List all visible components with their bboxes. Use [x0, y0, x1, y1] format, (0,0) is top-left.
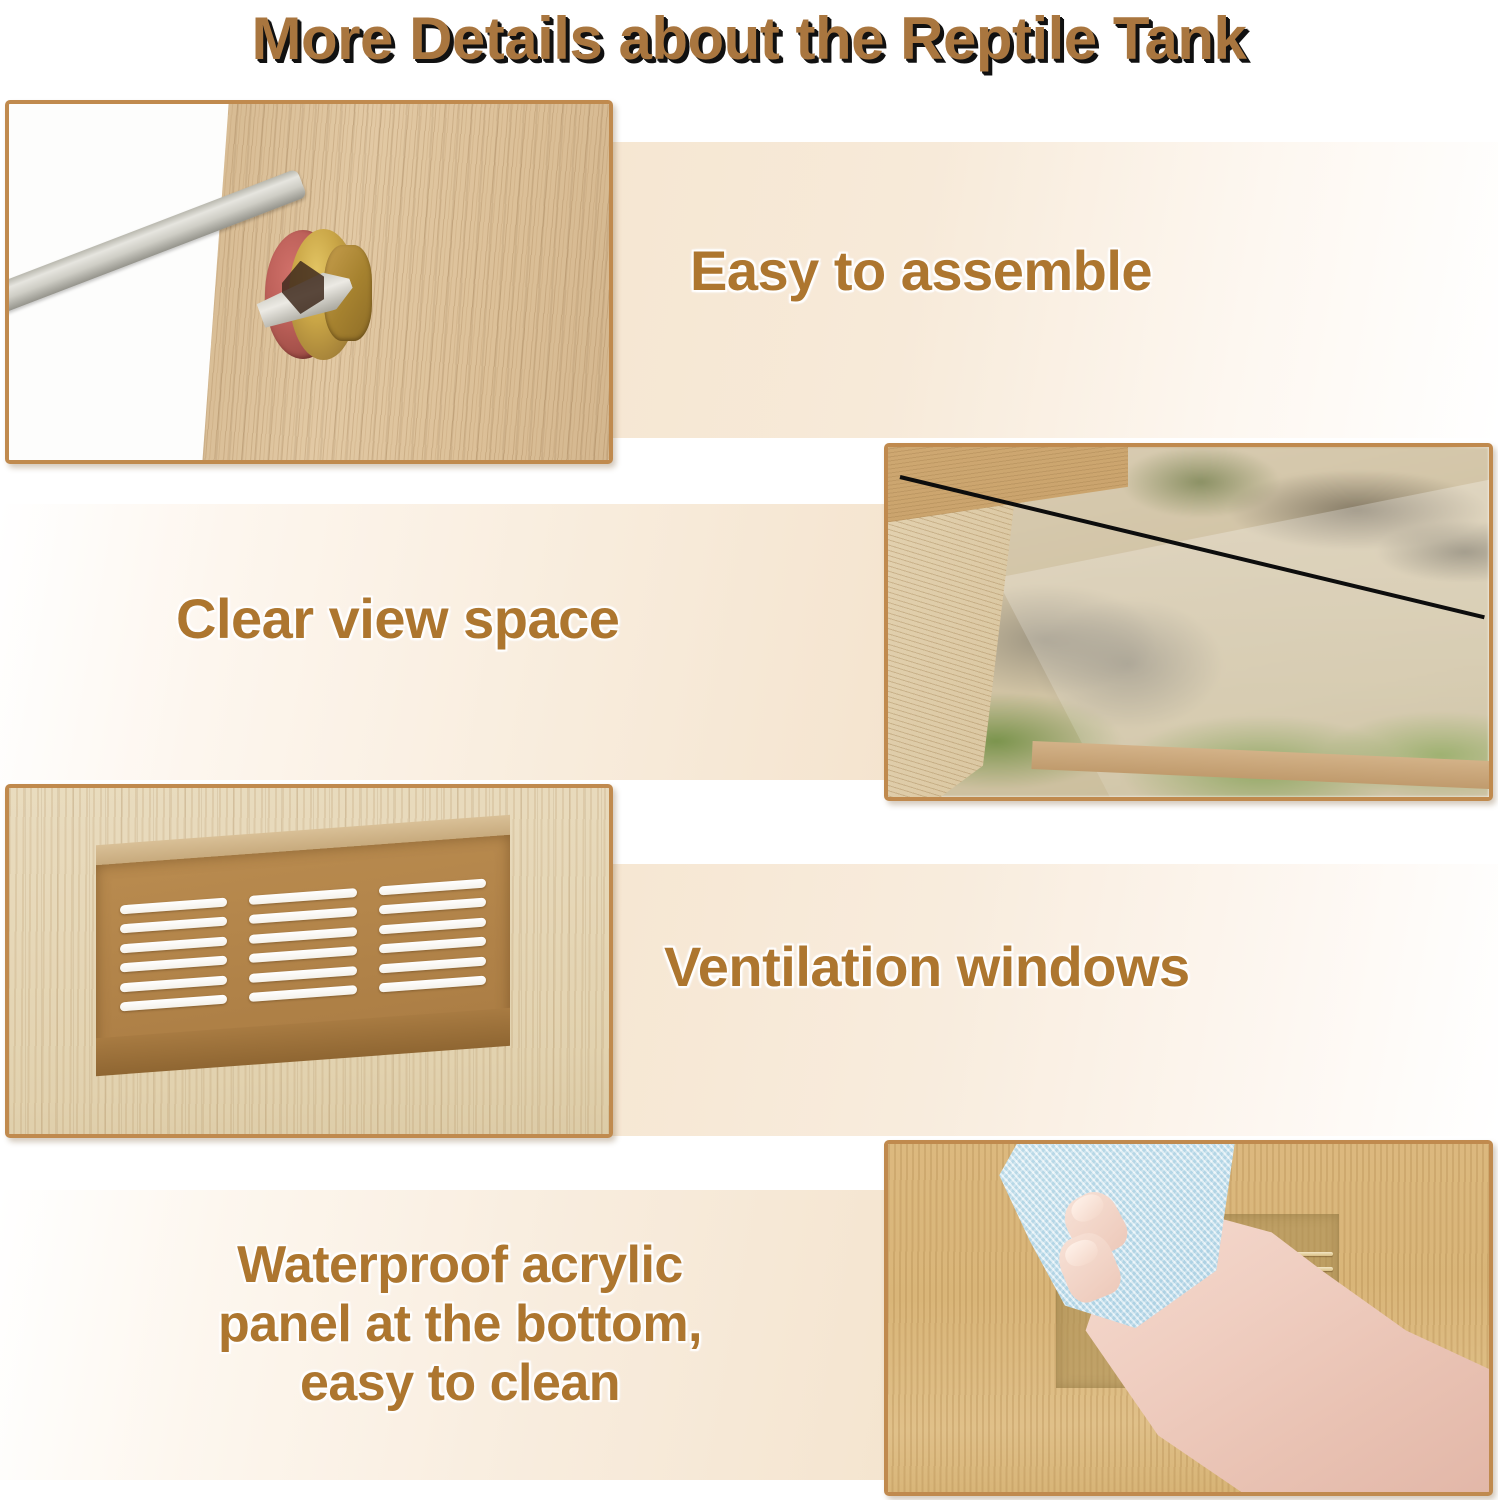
vent-slat-group — [120, 898, 227, 1012]
vent-slat — [120, 898, 227, 915]
caption-ventilation-windows: Ventilation windows — [664, 934, 1190, 999]
vent-slat — [120, 956, 227, 973]
vent-slat — [379, 957, 486, 974]
vent-slat — [120, 917, 227, 934]
caption-easy-to-assemble: Easy to assemble — [690, 238, 1152, 303]
photo-background — [9, 104, 609, 460]
vent-slat — [249, 927, 356, 944]
vent-slat — [120, 976, 227, 993]
photo-background — [888, 1144, 1489, 1492]
caption-line: Waterproof acrylic — [80, 1236, 840, 1295]
vent-slat — [379, 879, 486, 896]
photo-waterproof-easy-clean — [884, 1140, 1493, 1496]
vent-slat — [379, 976, 486, 993]
vent-slat — [379, 918, 486, 935]
page-title: More Details about the Reptile Tank — [0, 2, 1498, 80]
photo-clear-view-space — [884, 443, 1493, 801]
caption-line: panel at the bottom, — [80, 1295, 840, 1354]
vent-slat — [249, 947, 356, 964]
vent-slat — [379, 937, 486, 954]
vent-slat — [249, 986, 356, 1003]
photo-ventilation-windows — [5, 784, 613, 1138]
caption-line: easy to clean — [80, 1354, 840, 1413]
vent-slat — [249, 966, 356, 983]
vent-slat — [249, 908, 356, 925]
vent-slat — [120, 995, 227, 1012]
vent-slat — [379, 898, 486, 915]
caption-band-ventilation — [570, 864, 1498, 1136]
photo-background — [888, 447, 1489, 797]
vent-slat-group — [379, 879, 486, 993]
caption-clear-view-space: Clear view space — [176, 586, 619, 651]
caption-waterproof-easy-clean: Waterproof acrylic panel at the bottom, … — [80, 1236, 840, 1412]
photo-background — [9, 788, 609, 1134]
vent-slat-group — [249, 888, 356, 1002]
vent-slat — [249, 888, 356, 905]
wood-board — [200, 100, 613, 464]
photo-easy-to-assemble — [5, 100, 613, 464]
vent-slat — [120, 937, 227, 954]
